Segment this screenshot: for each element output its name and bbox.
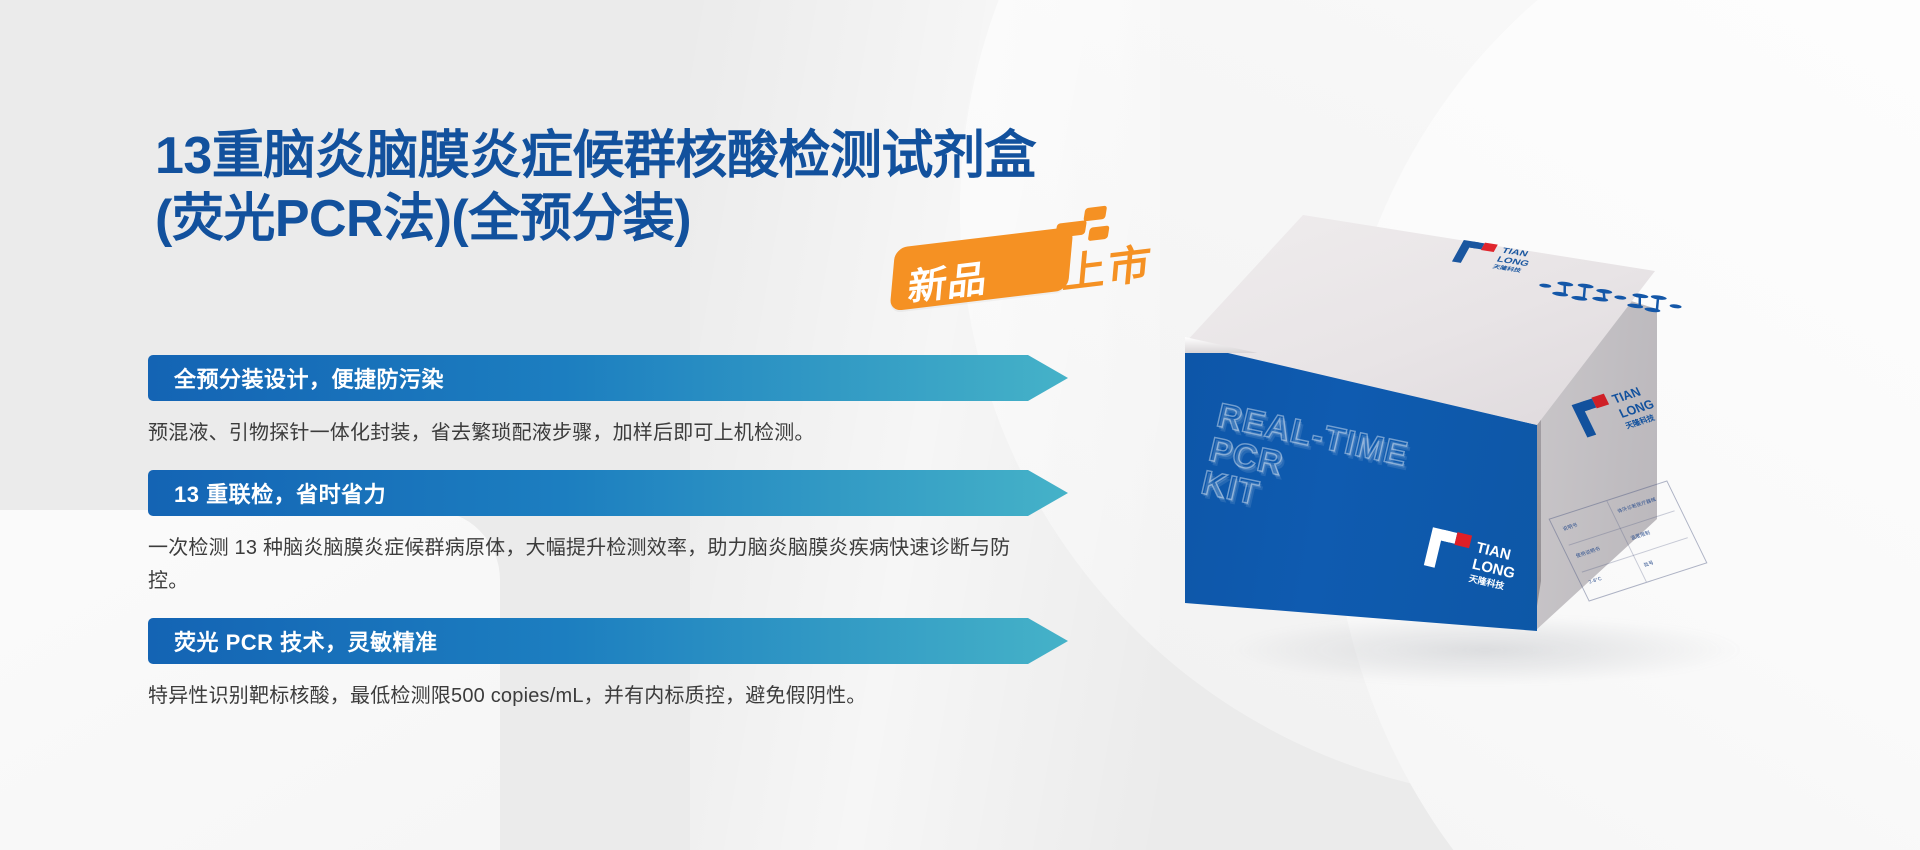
feature-title-bar: 13 重联检，省时省力 [148, 470, 1068, 516]
badge-secondary-label: 上市 [1060, 230, 1155, 301]
feature-title: 13 重联检，省时省力 [174, 477, 386, 509]
product-box-image: TIAN LONG 天隆科技 [1185, 215, 1805, 705]
feature-title: 全预分装设计，便捷防污染 [174, 362, 444, 394]
feature-list: 全预分装设计，便捷防污染 预混液、引物探针一体化封装，省去繁琐配液步骤，加样后即… [148, 355, 1108, 713]
feature-item: 全预分装设计，便捷防污染 预混液、引物探针一体化封装，省去繁琐配液步骤，加样后即… [148, 355, 1108, 450]
info-cell-5: 2-8°C [1588, 576, 1603, 585]
info-cell-1: 说明书 [1562, 522, 1579, 533]
feature-description: 一次检测 13 种脑炎脑膜炎症候群病原体，大幅提升检测效率，助力脑炎脑膜炎疾病快… [148, 532, 1048, 598]
new-product-badge: 新品 上市 [886, 203, 1156, 321]
info-cell-2: 体外诊断医疗器械 [1616, 496, 1657, 515]
page-title-line-1: 13重脑炎脑膜炎症候群核酸检测试剂盒 [155, 127, 1036, 185]
promo-banner: 13重脑炎脑膜炎症候群核酸检测试剂盒 (荧光PCR法)(全预分装) 新品 上市 … [0, 0, 1920, 850]
info-cell-6: 批号 [1643, 559, 1656, 568]
feature-description: 预混液、引物探针一体化封装，省去繁琐配液步骤，加样后即可上机检测。 [148, 417, 1048, 450]
feature-title-bar: 全预分装设计，便捷防污染 [148, 355, 1068, 401]
feature-item: 13 重联检，省时省力 一次检测 13 种脑炎脑膜炎症候群病原体，大幅提升检测效… [148, 470, 1108, 598]
info-cell-4: 温度限制 [1629, 529, 1651, 541]
feature-description: 特异性识别靶标核酸，最低检测限500 copies/mL，并有内标质控，避免假阴… [148, 680, 1048, 713]
feature-title: 荧光 PCR 技术，灵敏精准 [174, 625, 438, 657]
info-cell-3: 使用说明书 [1575, 545, 1602, 559]
feature-title-bar: 荧光 PCR 技术，灵敏精准 [148, 618, 1068, 664]
feature-item: 荧光 PCR 技术，灵敏精准 特异性识别靶标核酸，最低检测限500 copies… [148, 618, 1108, 713]
